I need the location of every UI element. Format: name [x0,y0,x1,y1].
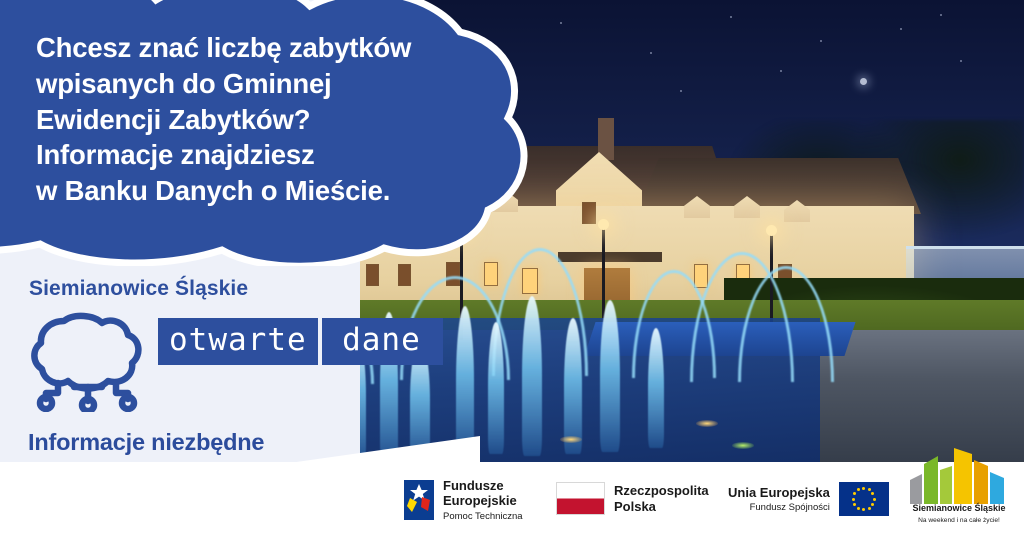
logo-rzeczpospolita-polska: Rzeczpospolita Polska [556,482,709,515]
ue-title-line1: Unia Europejska [728,485,830,500]
poland-flag-icon [556,482,605,515]
eu-star-icon [857,507,860,510]
fountain-light [732,442,754,449]
ue-subtitle: Fundusz Spójności [728,502,830,513]
water-jet [522,296,542,456]
open-data-word-top: otwarte [158,318,318,365]
star-icon [650,52,652,54]
headline-line: wpisanych do Gminnej [36,66,506,102]
water-jet [600,300,620,452]
eu-star-icon [873,498,876,501]
water-jet [456,306,474,456]
fundusze-europejskie-icon [404,480,434,520]
fe-title-line1: Fundusze [443,478,523,493]
poster: Chcesz znać liczbę zabytków wpisanych do… [0,0,1024,536]
eu-star-icon [868,488,871,491]
fe-subtitle: Pomoc Techniczna [443,511,523,522]
headline-line: w Banku Danych o Mieście. [36,173,506,209]
logo-fundusze-europejskie: Fundusze Europejskie Pomoc Techniczna [404,478,523,522]
star-icon [900,28,902,30]
water-jet [564,318,582,454]
eu-star-icon [862,508,865,511]
eu-star-icon [862,487,865,490]
water-jet [488,322,504,454]
city-logo-slogan: Na weekend i na całe życie! [900,517,1018,524]
star-icon [940,14,942,16]
eu-star-icon [857,488,860,491]
eu-star-icon [852,498,855,501]
rp-title-line1: Rzeczpospolita [614,483,709,498]
eu-star-icon [853,503,856,506]
logo-unia-europejska: Unia Europejska Fundusz Spójności [728,482,889,516]
star-icon [680,90,682,92]
city-logo: Siemianowice Śląskie Na weekend i na cał… [900,444,1018,530]
city-logo-bars [900,444,1018,506]
moon-icon [860,78,867,85]
rp-title-line2: Polska [614,499,709,514]
fountain-light [560,436,582,443]
eu-star-icon [853,492,856,495]
footer-bar: Fundusze Europejskie Pomoc Techniczna Rz… [0,462,1024,536]
star-icon [730,16,732,18]
fountain-light [696,420,718,427]
eu-star-icon [871,492,874,495]
headline: Chcesz znać liczbę zabytków wpisanych do… [36,30,506,209]
city-logo-name: Siemianowice Śląskie [900,503,1018,513]
fe-title-line2: Europejskie [443,493,523,508]
star-icon [820,40,822,42]
eu-flag-icon [839,482,889,516]
star-icon [960,60,962,62]
open-data-city-label: Siemianowice Śląskie [29,277,248,301]
star-icon [780,70,782,72]
open-data-wordmark: otwarte dane [158,312,443,365]
cloud-network-icon [28,307,148,412]
eu-star-icon [868,507,871,510]
headline-line: Informacje znajdziesz [36,137,506,173]
headline-line: Ewidencji Zabytków? [36,102,506,138]
tagline-line: Informacje niezbędne [28,428,358,457]
open-data-word-bottom: dane [322,318,443,365]
headline-line: Chcesz znać liczbę zabytków [36,30,506,66]
water-jet [648,328,664,448]
eu-star-icon [871,503,874,506]
